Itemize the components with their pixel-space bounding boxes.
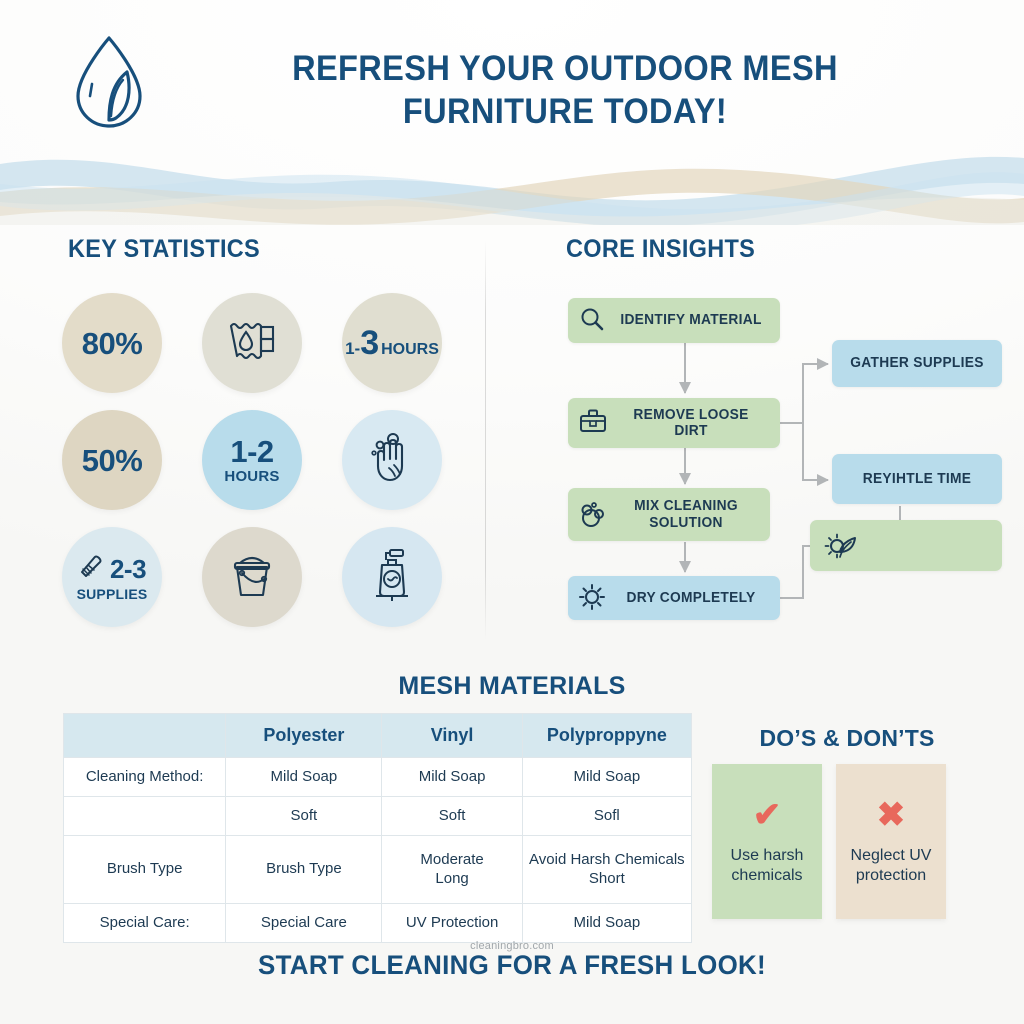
stat-range-low: 1- bbox=[345, 339, 360, 359]
sun-icon bbox=[578, 583, 608, 613]
flow-node-identify-material[interactable]: IDENTIFY MATERIAL bbox=[568, 298, 780, 343]
stat-value: 50% bbox=[82, 445, 143, 476]
key-statistics-grid: 80% 1-3HOURS 50% 1-2 HOURS bbox=[62, 293, 462, 643]
row-label: Special Care: bbox=[64, 904, 226, 943]
table-cell: Mild Soap bbox=[382, 758, 522, 797]
stat-circle-soap-dispenser bbox=[342, 527, 442, 627]
key-statistics-heading: KEY STATISTICS bbox=[68, 235, 260, 264]
stat-circle-gloved-hand bbox=[342, 410, 442, 510]
table-cell: Sofl bbox=[522, 797, 691, 836]
stat-circle-bucket bbox=[202, 527, 302, 627]
check-icon: ✔ bbox=[753, 798, 782, 832]
do-card: ✔ Use harsh chemicals bbox=[712, 764, 822, 919]
table-cell: Mild Soap bbox=[522, 904, 691, 943]
stat-circle-50-percent: 50% bbox=[62, 410, 162, 510]
flow-node-remove-loose-dirt[interactable]: REMOVE LOOSE DIRT bbox=[568, 398, 780, 448]
mesh-materials-heading: MESH MATERIALS bbox=[0, 672, 1024, 701]
table-row: Special Care: Special Care UV Protection… bbox=[64, 904, 692, 943]
flow-node-gather-supplies[interactable]: GATHER SUPPLIES bbox=[832, 340, 1002, 387]
flow-node-reyihtle-time[interactable]: REYIHTLE TIME bbox=[832, 454, 1002, 504]
table-cell: Moderate Long bbox=[382, 836, 522, 904]
table-cell: Mild Soap bbox=[522, 758, 691, 797]
stat-circle-1-2-hours: 1-2 HOURS bbox=[202, 410, 302, 510]
magnifier-icon bbox=[578, 306, 608, 336]
table-cell: Soft bbox=[382, 797, 522, 836]
row-label bbox=[64, 797, 226, 836]
page-title: REFRESH YOUR OUTDOOR MESH FURNITURE TODA… bbox=[207, 48, 923, 133]
soap-dispenser-icon bbox=[368, 548, 416, 607]
column-divider bbox=[485, 240, 486, 640]
table-header-polyester: Polyester bbox=[226, 714, 382, 758]
flow-node-dry-completely[interactable]: DRY COMPLETELY bbox=[568, 576, 780, 620]
table-header-corner bbox=[64, 714, 226, 758]
footer-cta: START CLEANING FOR A FRESH LOOK! bbox=[20, 950, 1003, 981]
flow-node-sun-leaf[interactable] bbox=[810, 520, 1002, 571]
do-card-text: Use harsh chemicals bbox=[720, 846, 814, 885]
stat-value: 2-3 bbox=[110, 556, 146, 582]
stat-unit: SUPPLIES bbox=[77, 587, 148, 602]
table-header-vinyl: Vinyl bbox=[382, 714, 522, 758]
table-row: Cleaning Method: Mild Soap Mild Soap Mil… bbox=[64, 758, 692, 797]
flow-node-label: IDENTIFY MATERIAL bbox=[616, 312, 766, 328]
stat-value: 80% bbox=[82, 328, 143, 359]
dos-donts-heading: DO’S & DON’TS bbox=[712, 725, 982, 752]
stat-value: 1-2 bbox=[230, 436, 273, 467]
mesh-materials-table: Polyester Vinyl Polyproppyne Cleaning Me… bbox=[63, 713, 692, 943]
row-label: Cleaning Method: bbox=[64, 758, 226, 797]
table-cell: Avoid Harsh Chemicals Short bbox=[522, 836, 691, 904]
header: REFRESH YOUR OUTDOOR MESH FURNITURE TODA… bbox=[0, 0, 1024, 150]
stat-circle-fabric bbox=[202, 293, 302, 393]
stat-unit: HOURS bbox=[381, 341, 439, 359]
fabric-water-icon bbox=[226, 318, 278, 369]
dont-card-text: Neglect UV protection bbox=[844, 846, 938, 885]
flow-node-label: REMOVE LOOSE DIRT bbox=[616, 407, 766, 439]
bubbles-icon bbox=[578, 500, 608, 530]
table-header-polyproppyne: Polyproppyne bbox=[522, 714, 691, 758]
table-header-row: Polyester Vinyl Polyproppyne bbox=[64, 714, 692, 758]
brush-icon bbox=[78, 552, 108, 585]
dos-donts-cards: ✔ Use harsh chemicals ✖ Neglect UV prote… bbox=[712, 764, 980, 919]
table-cell: Mild Soap bbox=[226, 758, 382, 797]
stat-range-high: 3 bbox=[360, 324, 378, 363]
dont-card: ✖ Neglect UV protection bbox=[836, 764, 946, 919]
table-cell: Soft bbox=[226, 797, 382, 836]
stat-circle-2-3-supplies: 2-3 SUPPLIES bbox=[62, 527, 162, 627]
stat-unit: HOURS bbox=[224, 469, 279, 485]
table-row: Brush Type Brush Type Moderate Long Avoi… bbox=[64, 836, 692, 904]
stat-circle-80-percent: 80% bbox=[62, 293, 162, 393]
table-row: Soft Soft Sofl bbox=[64, 797, 692, 836]
row-label: Brush Type bbox=[64, 836, 226, 904]
core-insights-heading: CORE INSIGHTS bbox=[566, 235, 755, 264]
table-cell: UV Protection bbox=[382, 904, 522, 943]
infographic-page: REFRESH YOUR OUTDOOR MESH FURNITURE TODA… bbox=[0, 0, 1024, 1024]
flow-node-label: GATHER SUPPLIES bbox=[846, 355, 989, 371]
table-cell: Special Care bbox=[226, 904, 382, 943]
bucket-icon bbox=[226, 549, 278, 606]
table-cell: Brush Type bbox=[226, 836, 382, 904]
gloved-hand-bubbles-icon bbox=[365, 432, 419, 489]
toolbox-icon bbox=[578, 408, 608, 438]
flow-node-label: MIX CLEANING SOLUTION bbox=[616, 498, 757, 530]
stat-circle-1-3-hours: 1-3HOURS bbox=[342, 293, 442, 393]
water-drop-leaf-icon bbox=[68, 32, 150, 132]
flow-node-label: DRY COMPLETELY bbox=[616, 590, 766, 606]
sun-leaf-icon bbox=[824, 531, 854, 561]
cross-icon: ✖ bbox=[877, 798, 906, 832]
wave-divider bbox=[0, 140, 1024, 225]
flow-node-mix-cleaning-solution[interactable]: MIX CLEANING SOLUTION bbox=[568, 488, 770, 541]
flow-node-label: REYIHTLE TIME bbox=[846, 471, 989, 487]
core-insights-flowchart: IDENTIFY MATERIAL REMOVE LOOSE DIRT bbox=[560, 288, 1010, 633]
